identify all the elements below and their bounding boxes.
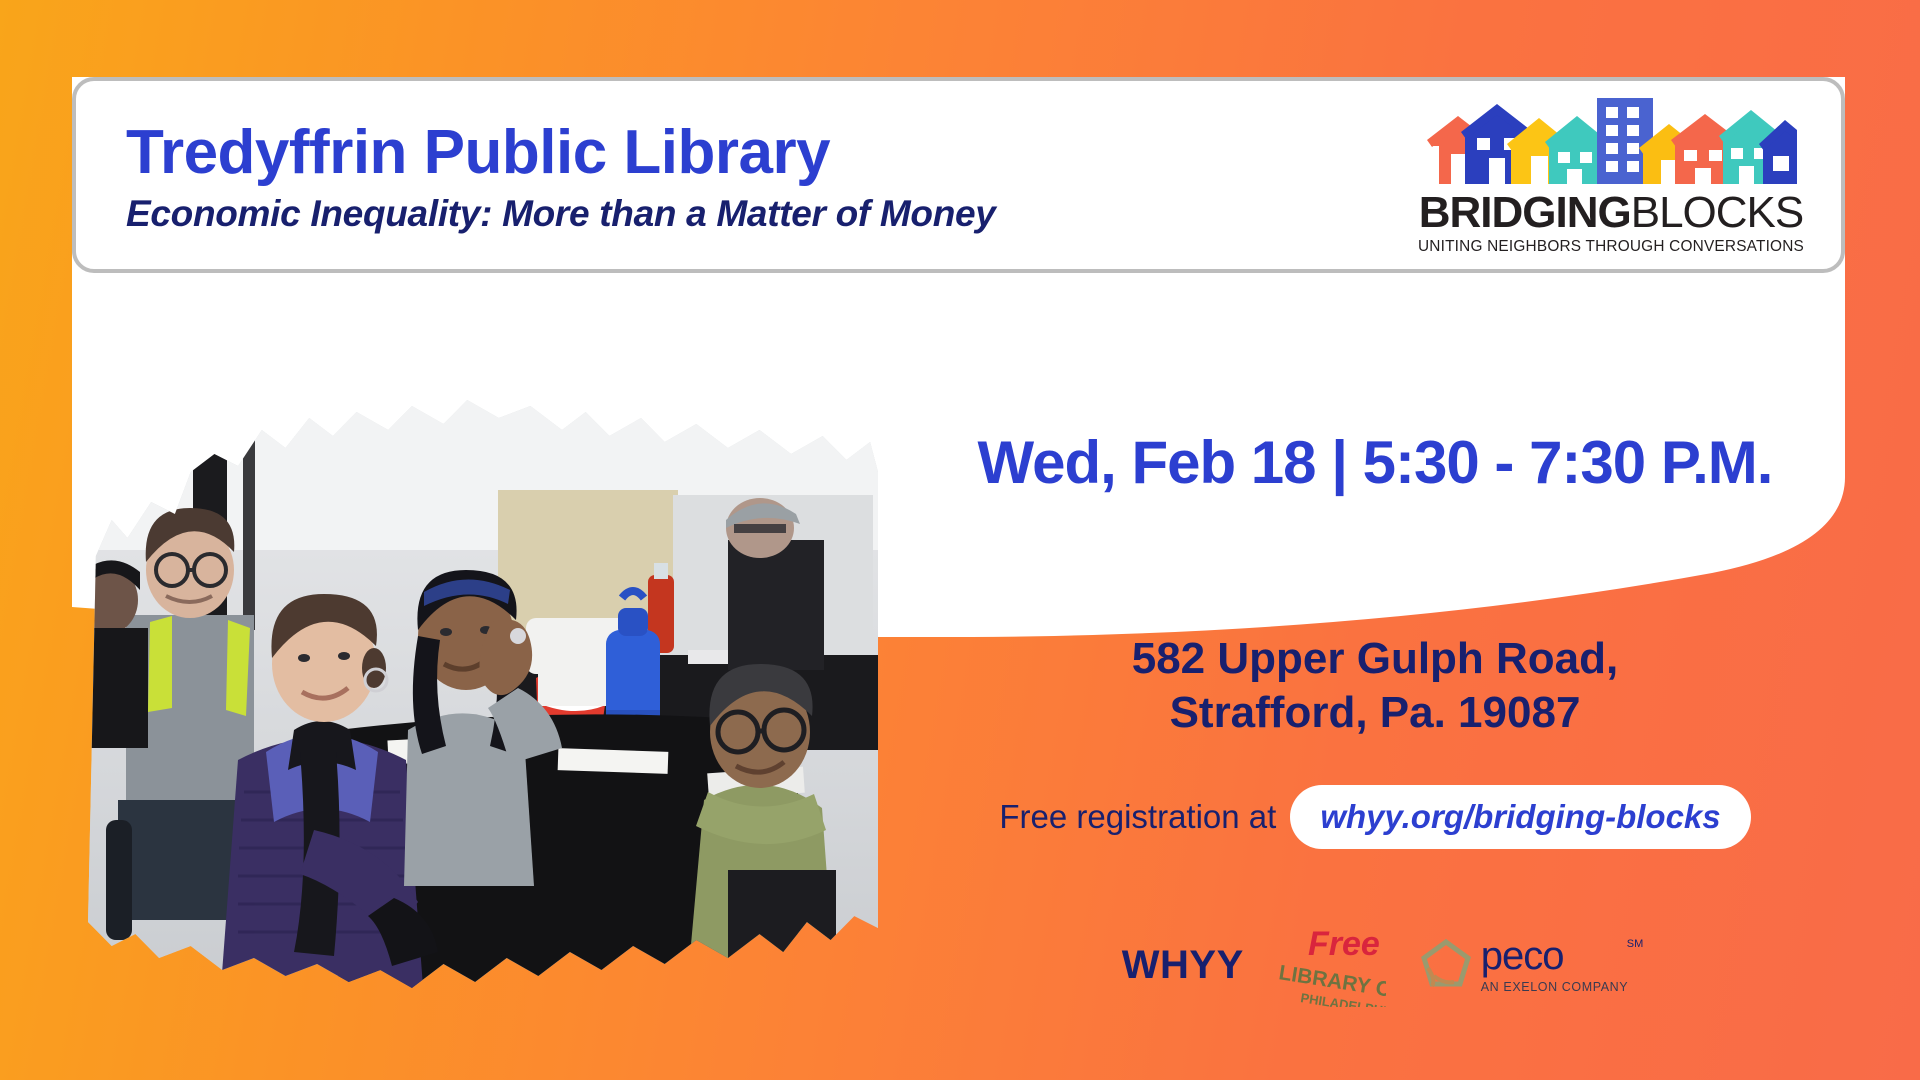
registration-url-link[interactable]: whyy.org/bridging-blocks xyxy=(1290,785,1750,849)
whyy-logo: WHYY xyxy=(1122,943,1244,988)
bridging-blocks-logo: BRIDGINGBLOCKS UNITING NEIGHBORS THROUGH… xyxy=(1415,94,1807,256)
flp-free-text: Free xyxy=(1308,925,1380,963)
peco-text-block: pecoSM AN EXELON COMPANY xyxy=(1481,937,1629,994)
flp-logo-icon: Free LIBRARY OF PHILADELPHIA xyxy=(1278,923,1386,1007)
photo-illustration xyxy=(88,400,878,1000)
peco-name: pecoSM xyxy=(1481,937,1629,975)
logo-tagline: UNITING NEIGHBORS THROUGH CONVERSATIONS xyxy=(1418,238,1804,256)
event-address: 582 Upper Gulph Road, Strafford, Pa. 190… xyxy=(905,632,1845,740)
event-datetime: Wed, Feb 18 | 5:30 - 7:30 P.M. xyxy=(905,428,1845,497)
peco-logo: pecoSM AN EXELON COMPANY xyxy=(1420,937,1629,994)
page-title: Tredyffrin Public Library xyxy=(126,121,996,185)
address-line-2: Strafford, Pa. 19087 xyxy=(905,686,1845,740)
peco-name-text: peco xyxy=(1481,934,1564,978)
peco-subtitle: AN EXELON COMPANY xyxy=(1481,980,1629,994)
event-subtitle: Economic Inequality: More than a Matter … xyxy=(126,193,996,235)
peco-service-mark: SM xyxy=(1627,939,1644,949)
houses-skyline-icon xyxy=(1425,94,1797,190)
header-card: Tredyffrin Public Library Economic Inequ… xyxy=(72,77,1845,273)
registration-row: Free registration at whyy.org/bridging-b… xyxy=(905,785,1845,849)
peco-pentagon-icon xyxy=(1420,938,1472,992)
registration-label: Free registration at xyxy=(999,798,1276,836)
wordmark-blocks: BLOCKS xyxy=(1631,188,1804,237)
wordmark-bridging: BRIDGING xyxy=(1419,188,1631,237)
free-library-of-philadelphia-logo: Free LIBRARY OF PHILADELPHIA xyxy=(1278,923,1386,1007)
title-block: Tredyffrin Public Library Economic Inequ… xyxy=(126,115,996,235)
sponsor-logos: WHYY Free LIBRARY OF PHILADELPHIA pecoSM… xyxy=(905,910,1845,1020)
event-photo xyxy=(88,400,878,1000)
bridging-blocks-wordmark: BRIDGINGBLOCKS xyxy=(1419,191,1804,235)
address-line-1: 582 Upper Gulph Road, xyxy=(905,632,1845,686)
